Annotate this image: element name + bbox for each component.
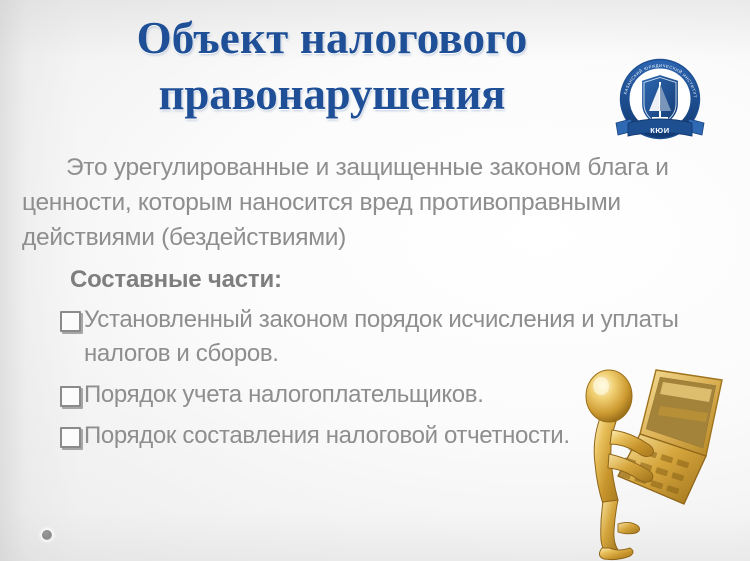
square-bullet-icon: [60, 311, 81, 332]
page-title: Объект налогового правонарушения: [52, 10, 612, 122]
intro-paragraph: Это урегулированные и защищенные законом…: [22, 150, 692, 255]
title-line-2: правонарушения: [52, 66, 612, 122]
square-bullet-icon: [60, 427, 81, 448]
university-emblem-icon: КАЗАНСКИЙ ЮРИДИЧЕСКИЙ ИНСТИТУТ КЮИ: [608, 49, 712, 147]
title-line-1: Объект налогового: [52, 10, 612, 66]
square-bullet-icon: [60, 386, 81, 407]
presentation-slide: Объект налогового правонарушения: [0, 0, 750, 561]
list-item-label: Порядок составления налоговой отчетности…: [84, 422, 570, 449]
gold-figure-with-laptop-icon: [556, 358, 750, 561]
svg-text:КЮИ: КЮИ: [650, 126, 670, 135]
subheading: Составные части:: [70, 263, 722, 297]
decorative-dot: [42, 530, 52, 540]
list-item-label: Порядок учета налогоплательщиков.: [84, 381, 484, 408]
